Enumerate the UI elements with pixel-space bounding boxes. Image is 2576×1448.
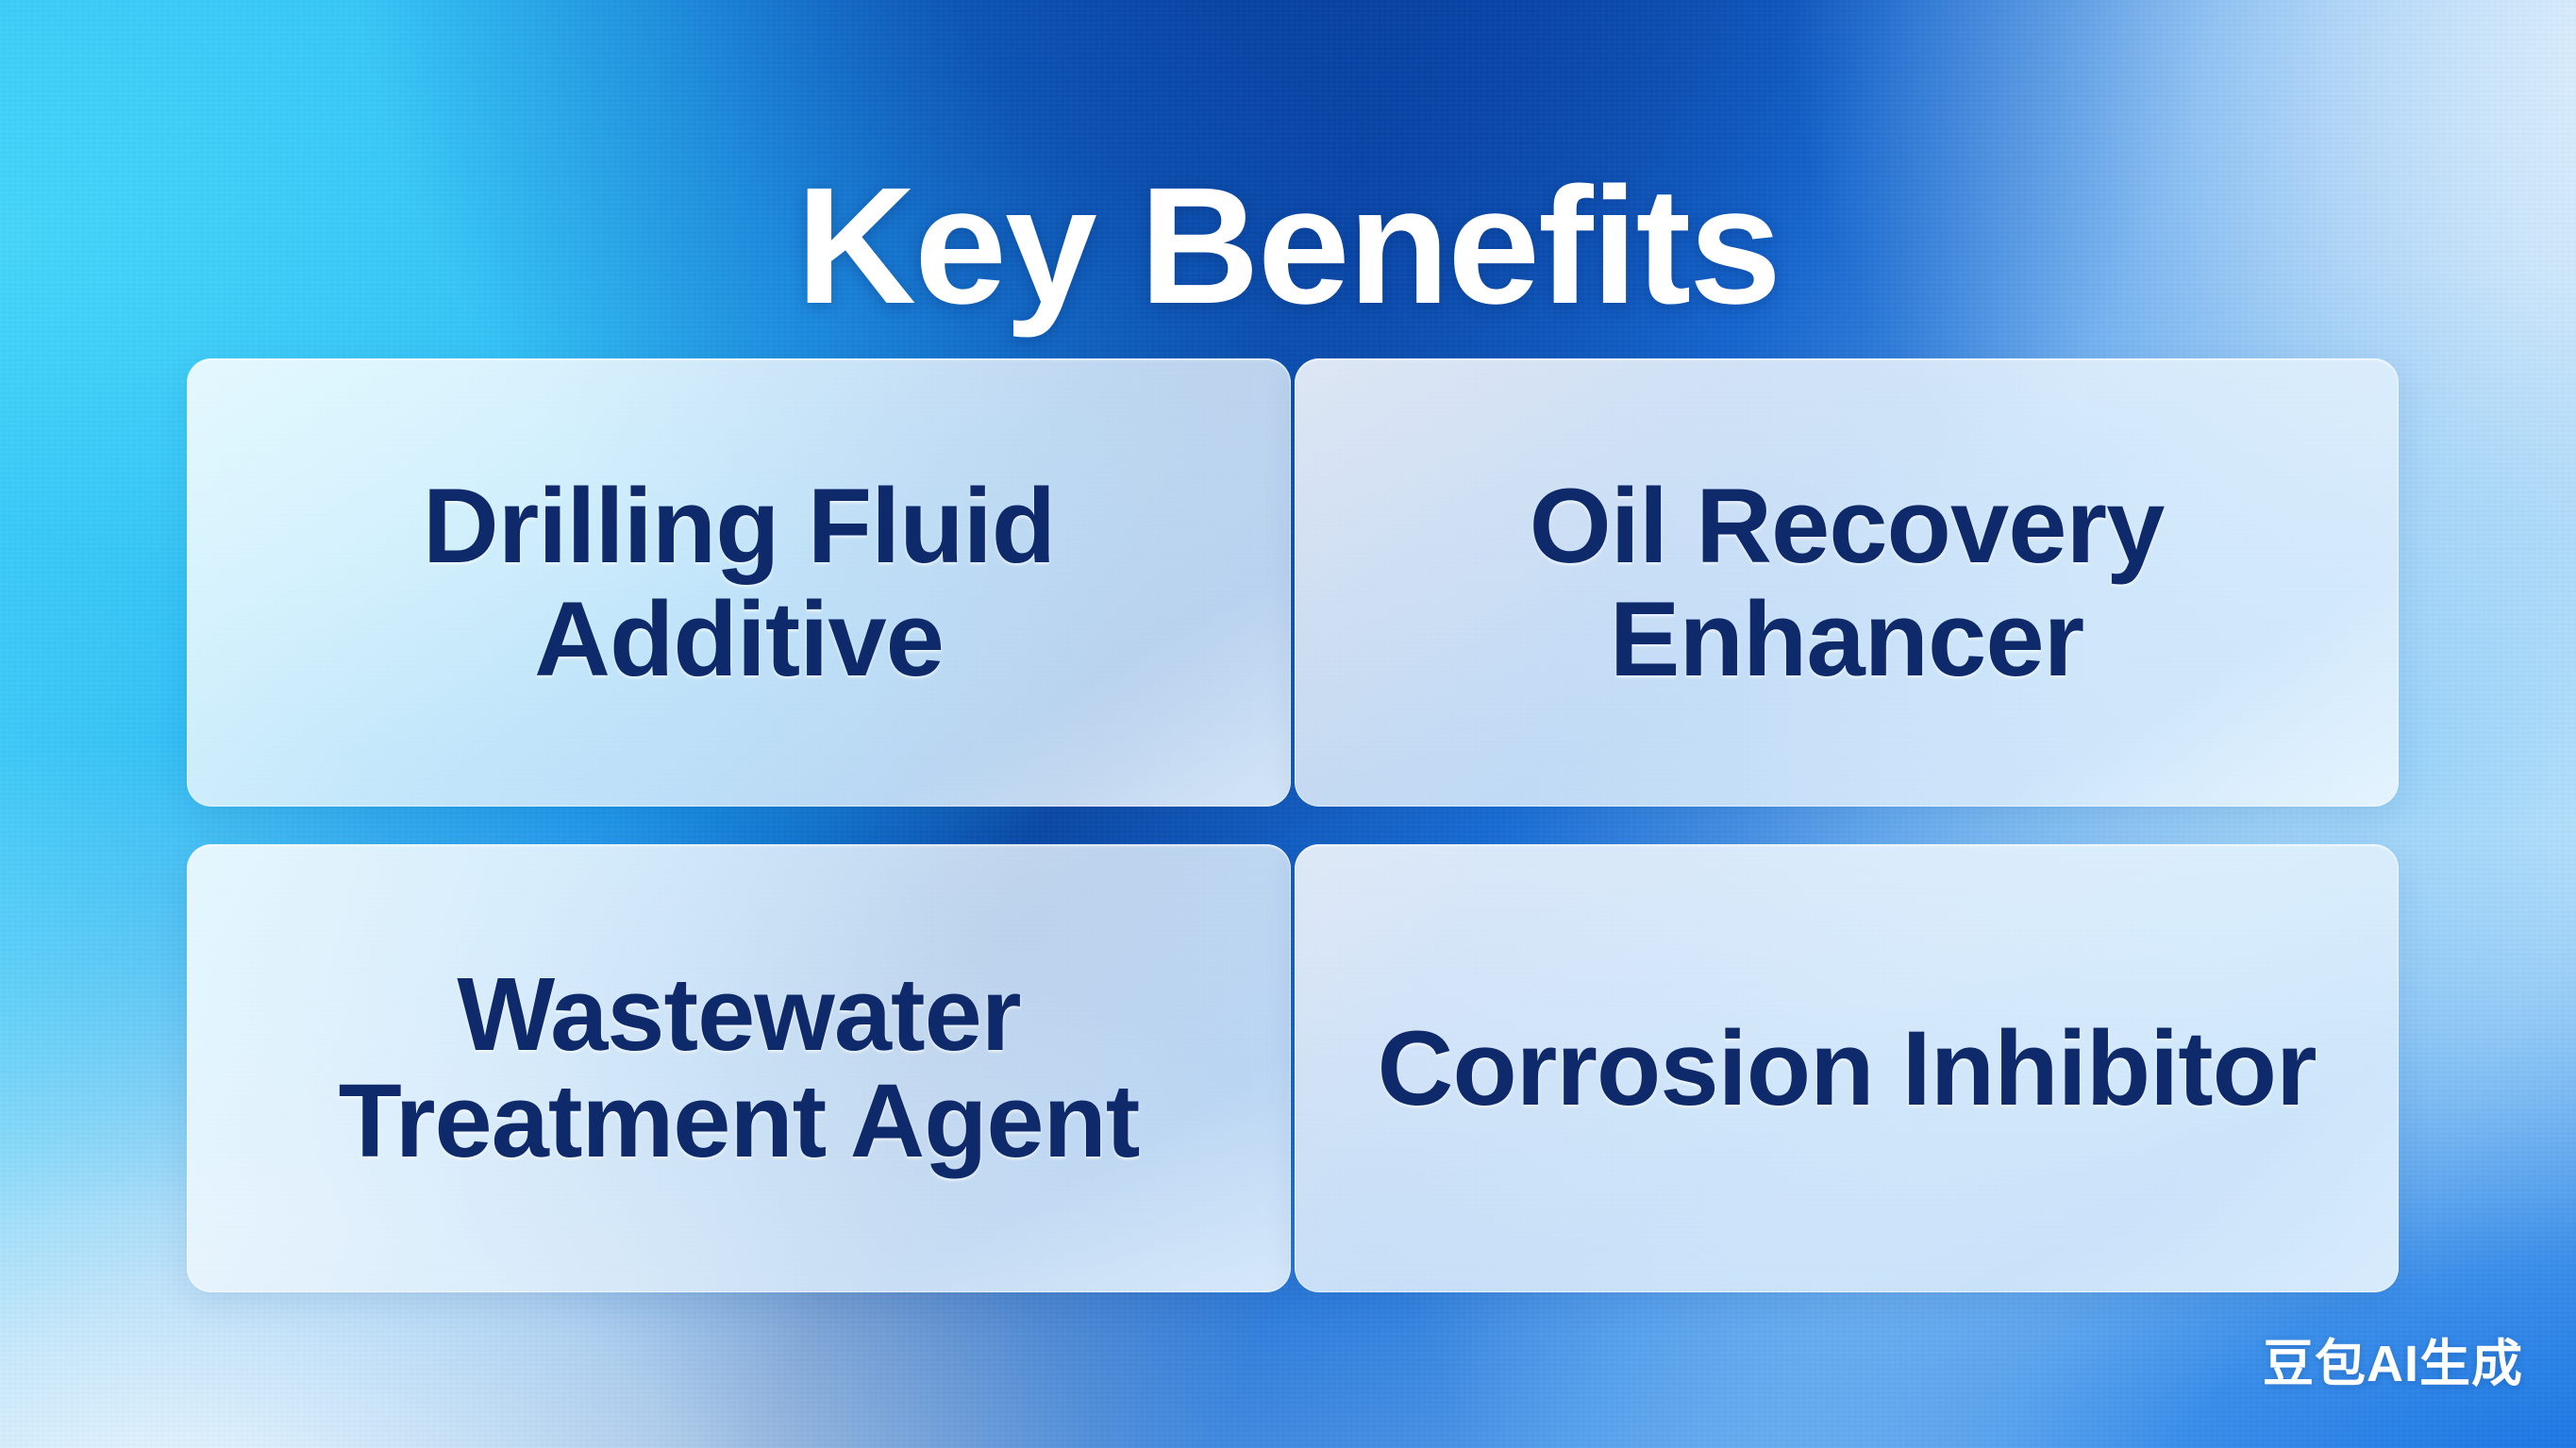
benefit-card-label: Wastewater Treatment Agent [253, 962, 1225, 1173]
slide-canvas: Key Benefits Drilling Fluid Additive Oil… [0, 0, 2576, 1448]
benefit-card-label: Corrosion Inhibitor [1377, 1012, 2316, 1125]
benefit-card-corrosion-inhibitor[interactable]: Corrosion Inhibitor [1295, 844, 2399, 1292]
benefit-card-wastewater-treatment-agent[interactable]: Wastewater Treatment Agent [187, 844, 1291, 1292]
benefit-card-drilling-fluid-additive[interactable]: Drilling Fluid Additive [187, 358, 1291, 807]
benefit-card-label: Oil Recovery Enhancer [1361, 470, 2333, 696]
benefits-grid: Drilling Fluid Additive Oil Recovery Enh… [187, 358, 2399, 1292]
benefit-card-oil-recovery-enhancer[interactable]: Oil Recovery Enhancer [1295, 358, 2399, 807]
benefit-card-label: Drilling Fluid Additive [253, 470, 1225, 696]
page-title: Key Benefits [0, 157, 2576, 336]
ai-generated-watermark: 豆包AI生成 [2263, 1339, 2523, 1390]
